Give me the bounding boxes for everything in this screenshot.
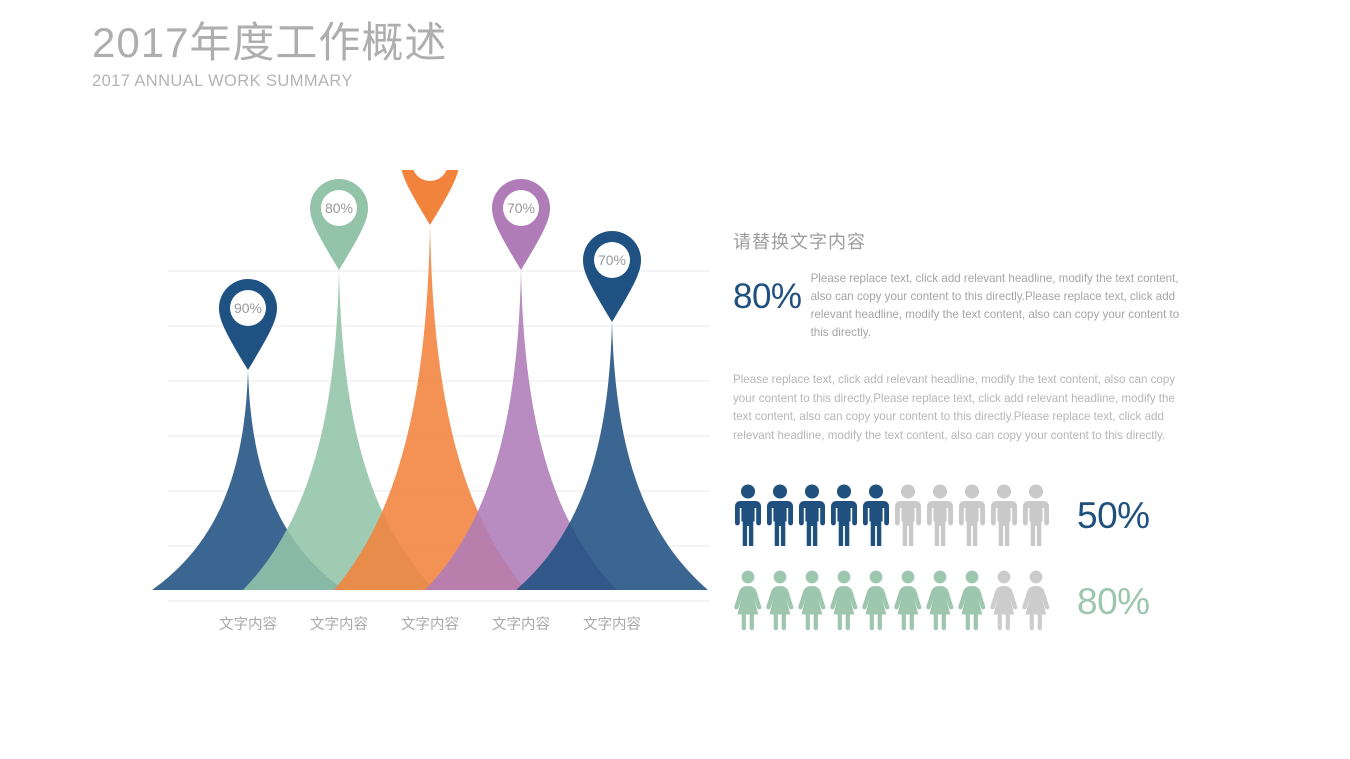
female-figure-icon — [1021, 570, 1051, 632]
male-figure-icon — [989, 484, 1019, 546]
pin-value-label: 70% — [598, 252, 626, 268]
female-figure-icon — [829, 570, 859, 632]
male-figure-icon — [829, 484, 859, 546]
right-content-panel: 请替换文字内容 80% Please replace text, click a… — [733, 228, 1203, 644]
male-figure-icon — [1021, 484, 1051, 546]
chart-pin-marker[interactable]: 70% — [492, 179, 550, 270]
male-figure-icon — [861, 484, 891, 546]
female-figure-icon — [797, 570, 827, 632]
female-figure-icon — [893, 570, 923, 632]
male-figure-icon — [733, 484, 763, 546]
male-figure-icon — [925, 484, 955, 546]
chart-x-label: 文字内容 — [219, 613, 277, 634]
female-figure-icon — [989, 570, 1019, 632]
kpi-block: 80% Please replace text, click add relev… — [733, 270, 1203, 342]
female-figure-icon — [861, 570, 891, 632]
pictogram-row-male: 50% — [733, 472, 1203, 558]
kpi-description: Please replace text, click add relevant … — [811, 270, 1183, 342]
chart-pin-marker[interactable]: 90% — [219, 279, 277, 370]
chart-x-label: 文字内容 — [583, 613, 641, 634]
pin-value-label: 80% — [325, 200, 353, 216]
chart-x-label: 文字内容 — [492, 613, 550, 634]
female-figure-icon — [765, 570, 795, 632]
female-figure-icon — [957, 570, 987, 632]
chart-x-label: 文字内容 — [401, 613, 459, 634]
pictogram-row-female: 80% — [733, 558, 1203, 644]
chart-canvas: 90%80%70%70%70% — [150, 170, 730, 640]
female-figure-icon — [925, 570, 955, 632]
chart-pin-marker[interactable]: 70% — [583, 231, 641, 322]
kpi-percentage: 80% — [733, 279, 802, 314]
male-figure-icon — [957, 484, 987, 546]
page-subtitle: 2017 ANNUAL WORK SUMMARY — [92, 72, 447, 91]
page-header: 2017年度工作概述 2017 ANNUAL WORK SUMMARY — [92, 18, 447, 91]
right-panel-heading: 请替换文字内容 — [733, 228, 1203, 254]
male-figure-icon — [893, 484, 923, 546]
body-paragraph: Please replace text, click add relevant … — [733, 371, 1189, 446]
page-title: 2017年度工作概述 — [92, 18, 447, 68]
female-figure-icon-group — [733, 570, 1053, 632]
male-figure-icon — [765, 484, 795, 546]
pictogram-percentage-female: 80% — [1077, 583, 1150, 620]
spike-area-chart: 90%80%70%70%70% 文字内容文字内容文字内容文字内容文字内容 — [150, 170, 730, 640]
male-figure-icon-group — [733, 484, 1053, 546]
pin-value-label: 90% — [234, 300, 262, 316]
chart-x-label: 文字内容 — [310, 613, 368, 634]
pictogram-percentage-male: 50% — [1077, 497, 1150, 534]
pin-value-label: 70% — [416, 170, 444, 171]
male-figure-icon — [797, 484, 827, 546]
female-figure-icon — [733, 570, 763, 632]
chart-pin-marker[interactable]: 80% — [310, 179, 368, 270]
pictogram-section: 50% 80% — [733, 472, 1203, 644]
pin-value-label: 70% — [507, 200, 535, 216]
chart-pin-marker[interactable]: 70% — [401, 170, 459, 225]
